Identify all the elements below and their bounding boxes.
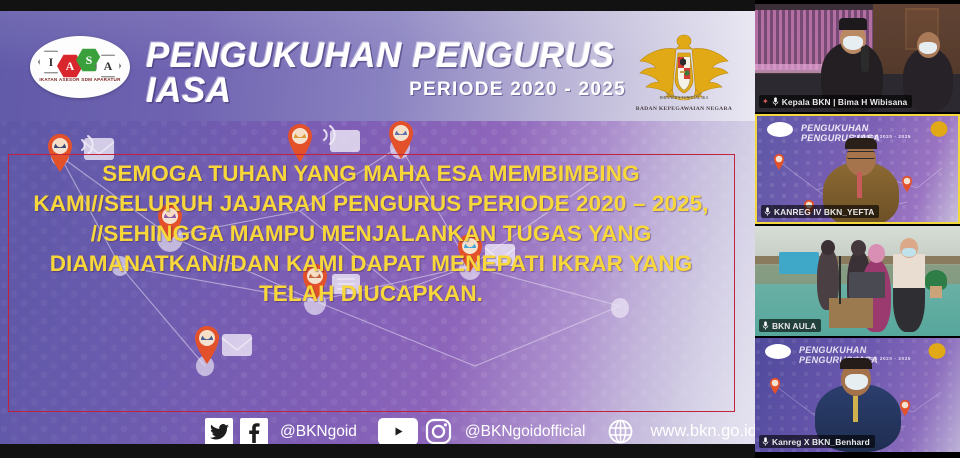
website-url[interactable]: www.bkn.go.id bbox=[651, 422, 756, 441]
tile-2-name-badge: KANREG IV BKN_YEFTA bbox=[761, 205, 879, 218]
video-conference-screen: I A S A IKATAN ASESOR SDM APARATUR PENGU… bbox=[0, 0, 960, 458]
participant-tile-3[interactable]: BKN AULA bbox=[755, 226, 960, 336]
youtube-icon[interactable] bbox=[378, 418, 418, 444]
participant-tile-1[interactable]: ✦ Kepala BKN | Bima H Wibisana bbox=[755, 4, 960, 112]
tile-2-label: KANREG IV BKN_YEFTA bbox=[774, 207, 874, 217]
slide-quote-text: SEMOGA TUHAN YANG MAHA ESA MEMBIMBING KA… bbox=[26, 159, 716, 309]
svg-text:BHINNEKA TUNGGAL IKA: BHINNEKA TUNGGAL IKA bbox=[660, 95, 709, 100]
garuda-emblem-icon: BHINNEKA TUNGGAL IKA bbox=[636, 27, 732, 105]
pin-icon: ✦ bbox=[762, 97, 769, 106]
iasa-logo: I A S A IKATAN ASESOR SDM APARATUR bbox=[30, 36, 130, 98]
instagram-icon[interactable] bbox=[425, 418, 453, 445]
slide-period: PERIODE 2020 - 2025 bbox=[146, 79, 626, 101]
shared-screen-stage: I A S A IKATAN ASESOR SDM APARATUR PENGU… bbox=[0, 0, 755, 458]
tile-4-label: Kanreg X BKN_Benhard bbox=[772, 437, 870, 447]
tile-3-label: BKN AULA bbox=[772, 321, 816, 331]
emblem-caption: BADAN KEPEGAWAIAN NEGARA bbox=[616, 106, 752, 112]
tile-1-name-badge: ✦ Kepala BKN | Bima H Wibisana bbox=[759, 95, 912, 108]
tile-1-label: Kepala BKN | Bima H Wibisana bbox=[782, 97, 908, 107]
facebook-icon[interactable] bbox=[240, 418, 268, 445]
logo-subtitle: IKATAN ASESOR SDM APARATUR bbox=[30, 77, 130, 82]
microphone-icon bbox=[762, 321, 769, 330]
social-handle-primary: @BKNgoid bbox=[280, 423, 357, 441]
globe-icon[interactable] bbox=[607, 418, 635, 445]
twitter-icon[interactable] bbox=[205, 418, 233, 445]
tile-4-name-badge: Kanreg X BKN_Benhard bbox=[759, 435, 875, 448]
participant-tile-2[interactable]: PENGUKUHAN PENGURUS IASA PERIODE 2020 - … bbox=[755, 114, 960, 224]
microphone-icon bbox=[764, 207, 771, 216]
social-footer: @BKNgoid @BKNgoidofficial www.bkn.go.id bbox=[0, 408, 755, 444]
microphone-icon bbox=[762, 437, 769, 446]
social-handle-secondary: @BKNgoidofficial bbox=[465, 423, 586, 441]
presentation-slide: I A S A IKATAN ASESOR SDM APARATUR PENGU… bbox=[0, 11, 755, 444]
microphone-icon bbox=[772, 97, 779, 106]
participant-tile-4[interactable]: PENGUKUHAN PENGURUS IASA PERIODE 2020 - … bbox=[755, 338, 960, 452]
participant-tile-strip: ✦ Kepala BKN | Bima H Wibisana PENGUKUHA… bbox=[755, 0, 960, 458]
tile-3-name-badge: BKN AULA bbox=[759, 319, 821, 332]
